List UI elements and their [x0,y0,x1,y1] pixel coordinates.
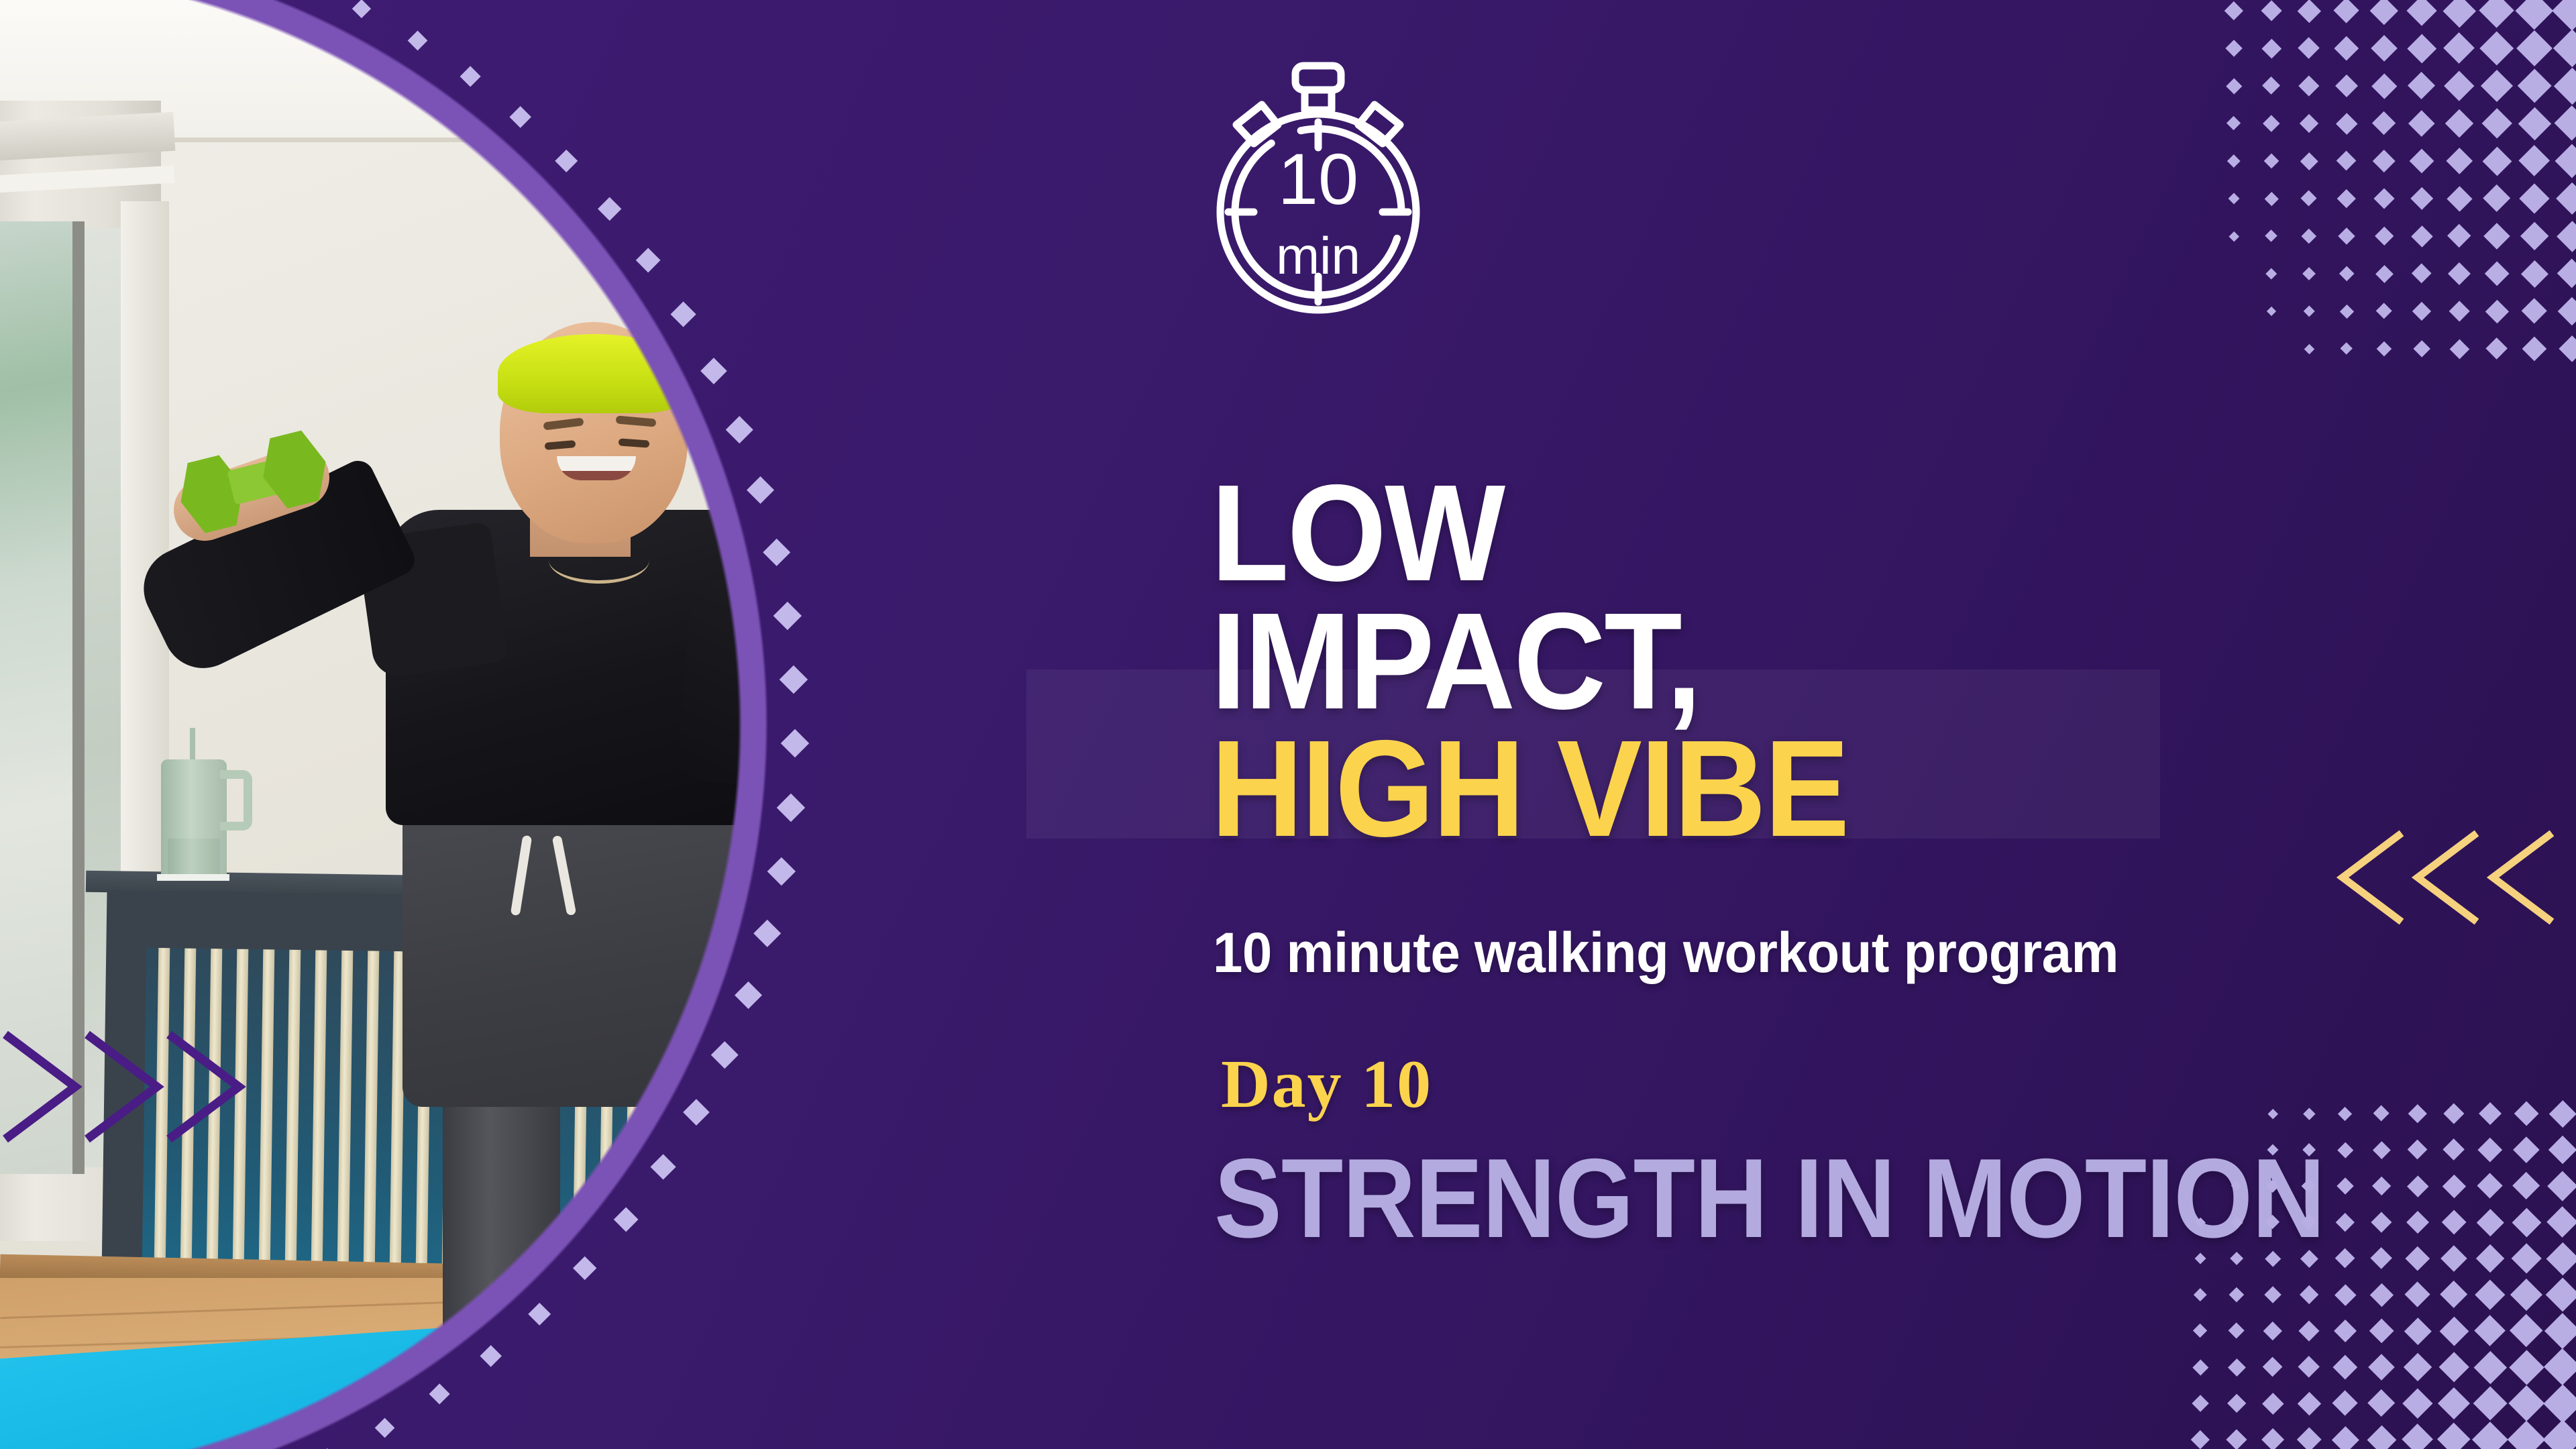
tumbler-straw [190,728,195,763]
headband [498,334,691,413]
stopwatch-unit: min [1276,226,1360,285]
headline-line-2: IMPACT, [1211,598,2396,726]
stopwatch-number: 10 [1278,138,1358,219]
page-title: LOW IMPACT, HIGH VIBE [1211,470,2396,853]
tumbler-base [157,874,229,881]
tumbler-handle [220,770,252,830]
workout-photo [0,0,1087,1449]
drawstring [510,835,584,922]
necklace [549,537,649,584]
subtitle: 10 minute walking workout program [1213,920,2424,985]
photo-panel [0,0,1114,1449]
halftone-bottom-right [2200,1114,2576,1449]
sleeve-right [676,578,837,791]
halftone-top-right [2234,0,2576,349]
banner-canvas: 10 min LOW IMPACT, HIGH VIBE 10 minute w… [0,0,2576,1449]
chevron-right-triple-icon [0,1020,275,1154]
chevron-left-triple-icon [2328,824,2576,931]
person-joggers [402,785,751,1107]
stopwatch-icon: 10 min [1197,60,1439,315]
mouth-smile [557,456,636,480]
foam-roller [854,1256,933,1434]
headline-line-3: HIGH VIBE [1211,725,2396,853]
day-label: Day 10 [1221,1045,1432,1124]
headline-line-1: LOW [1211,470,2396,598]
